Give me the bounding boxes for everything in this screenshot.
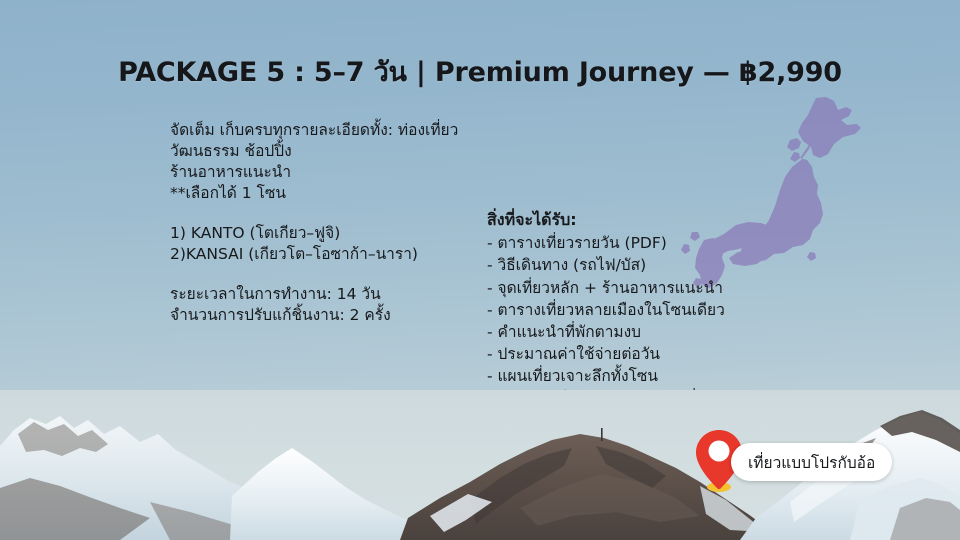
- revision-count-line: จำนวนการปรับแก้ชิ้นงาน: 2 ครั้ง: [170, 305, 500, 326]
- list-item: - จุดเที่ยวหลัก + ร้านอาหารแนะนำ: [487, 277, 847, 299]
- deliverables-list: - ตารางเที่ยวรายวัน (PDF) - วิธีเดินทาง …: [487, 232, 847, 410]
- zone-option-1: 1) KANTO (โตเกียว–ฟูจิ): [170, 223, 500, 244]
- list-item: - วิธีเดินทาง (รถไฟ/บัส): [487, 254, 847, 276]
- badge-label: เที่ยวแบบโปรกับอ้อ: [748, 450, 875, 475]
- page-title: PACKAGE 5 : 5–7 วัน | Premium Journey — …: [0, 50, 960, 93]
- promo-slide: PACKAGE 5 : 5–7 วัน | Premium Journey — …: [0, 0, 960, 540]
- left-description-column: จัดเต็ม เก็บครบทุกรายละเอียดทั้ง: ท่องเท…: [170, 120, 500, 326]
- status-badge: เที่ยวแบบโปรกับอ้อ: [731, 443, 892, 481]
- intro-line-3: **เลือกได้ 1 โซน: [170, 183, 500, 204]
- intro-line-1: จัดเต็ม เก็บครบทุกรายละเอียดทั้ง: ท่องเท…: [170, 120, 500, 162]
- delivery-time-line: ระยะเวลาในการทำงาน: 14 วัน: [170, 284, 500, 305]
- list-item: - ตารางเที่ยวหลายเมืองในโซนเดียว: [487, 299, 847, 321]
- list-item: - ประมาณค่าใช้จ่ายต่อวัน: [487, 343, 847, 365]
- list-item: - คำแนะนำที่พักตามงบ: [487, 321, 847, 343]
- zone-option-2: 2)KANSAI (เกียวโต–โอซาก้า–นารา): [170, 244, 500, 265]
- deliverables-heading: สิ่งที่จะได้รับ:: [487, 209, 847, 231]
- spacer: [170, 265, 500, 284]
- deliverables-column: สิ่งที่จะได้รับ: - ตารางเที่ยวรายวัน (PD…: [487, 209, 847, 410]
- list-item: - ตารางเที่ยวรายวัน (PDF): [487, 232, 847, 254]
- spacer: [170, 204, 500, 223]
- intro-line-2: ร้านอาหารแนะนำ: [170, 162, 500, 183]
- list-item: - แผนเที่ยวเจาะลึกทั้งโซน: [487, 365, 847, 387]
